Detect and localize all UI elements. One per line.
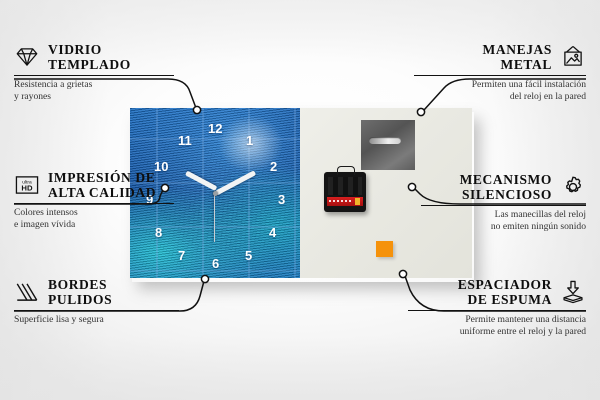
clock-numeral-7: 7 — [178, 249, 185, 262]
movement-stem — [337, 166, 355, 175]
picture-frame-icon — [560, 44, 586, 70]
callout-title-line1: MECANISMO — [460, 172, 552, 187]
clock-second-hand — [214, 192, 215, 242]
callout-rule — [421, 205, 586, 206]
callout-title-line2: METAL — [483, 57, 552, 72]
callout-sub-line1: Superficie lisa y segura — [14, 314, 179, 326]
callout-sub-line2: uniforme entre el reloj y la pared — [408, 326, 586, 338]
callout-sub-line2: no emiten ningún sonido — [421, 221, 586, 233]
callout-title-line1: BORDES — [48, 277, 112, 292]
clock-numeral-1: 1 — [246, 134, 253, 147]
svg-text:HD: HD — [21, 184, 33, 193]
callout-sub-line2: e imagen vívida — [14, 219, 174, 231]
clock-numeral-11: 11 — [178, 134, 192, 147]
callout-sub-line1: Permiten una fácil instalación — [414, 79, 586, 91]
movement-body — [328, 177, 362, 195]
callout-rule — [408, 310, 586, 311]
callout-mecanismo-silencioso: MECANISMO SILENCIOSO Las manecillas del … — [421, 172, 586, 232]
polished-edges-icon — [14, 279, 40, 305]
battery-terminal — [355, 198, 360, 205]
callout-sub-line1: Las manecillas del reloj — [421, 209, 586, 221]
battery-label — [329, 200, 353, 202]
hanger-slot — [369, 137, 401, 144]
foam-spacer-icon — [560, 279, 586, 305]
foam-spacer — [376, 241, 393, 257]
callout-vidrio-templado: VIDRIO TEMPLADO Resistencia a grietas y … — [14, 42, 174, 102]
callout-rule — [14, 310, 179, 311]
callout-impresion-alta-calidad: ultra HD IMPRESIÓN DE ALTA CALIDAD Color… — [14, 170, 174, 230]
callout-rule — [14, 75, 174, 76]
callout-manejas-metal: MANEJAS METAL Permiten una fácil instala… — [414, 42, 586, 102]
callout-bordes-pulidos: BORDES PULIDOS Superficie lisa y segura — [14, 277, 179, 326]
clock-numeral-2: 2 — [270, 160, 277, 173]
callout-espaciador-espuma: ESPACIADOR DE ESPUMA Permite mantener un… — [408, 277, 586, 337]
clock-numeral-5: 5 — [245, 249, 252, 262]
callout-title-line1: VIDRIO — [48, 42, 131, 57]
clock-numeral-6: 6 — [212, 257, 219, 270]
diamond-icon — [14, 44, 40, 70]
callout-title-line2: DE ESPUMA — [458, 292, 552, 307]
clock-numeral-3: 3 — [278, 193, 285, 206]
callout-sub-line2: y rayones — [14, 91, 174, 103]
clock-center-cap — [213, 191, 218, 196]
callout-title-line2: ALTA CALIDAD — [48, 185, 156, 200]
metal-hanger — [361, 120, 415, 170]
callout-sub-line1: Permite mantener una distancia — [408, 314, 586, 326]
callout-title-line2: PULIDOS — [48, 292, 112, 307]
callout-title-line1: MANEJAS — [483, 42, 552, 57]
callout-title-line2: TEMPLADO — [48, 57, 131, 72]
callout-sub-line1: Resistencia a grietas — [14, 79, 174, 91]
clock-numeral-4: 4 — [269, 226, 276, 239]
callout-rule — [414, 75, 586, 76]
infographic-canvas: 12 1 2 3 4 5 6 7 8 9 10 11 — [0, 0, 600, 400]
battery — [327, 197, 363, 206]
gear-icon — [560, 174, 586, 200]
callout-title-line1: IMPRESIÓN DE — [48, 170, 156, 185]
callout-sub-line2: del reloj en la pared — [414, 91, 586, 103]
callout-sub-line1: Colores intensos — [14, 207, 174, 219]
ultra-hd-icon: ultra HD — [14, 172, 40, 198]
quartz-movement — [324, 172, 366, 212]
callout-rule — [14, 203, 174, 204]
callout-title-line1: ESPACIADOR — [458, 277, 552, 292]
callout-title-line2: SILENCIOSO — [460, 187, 552, 202]
clock-numeral-12: 12 — [208, 122, 222, 135]
